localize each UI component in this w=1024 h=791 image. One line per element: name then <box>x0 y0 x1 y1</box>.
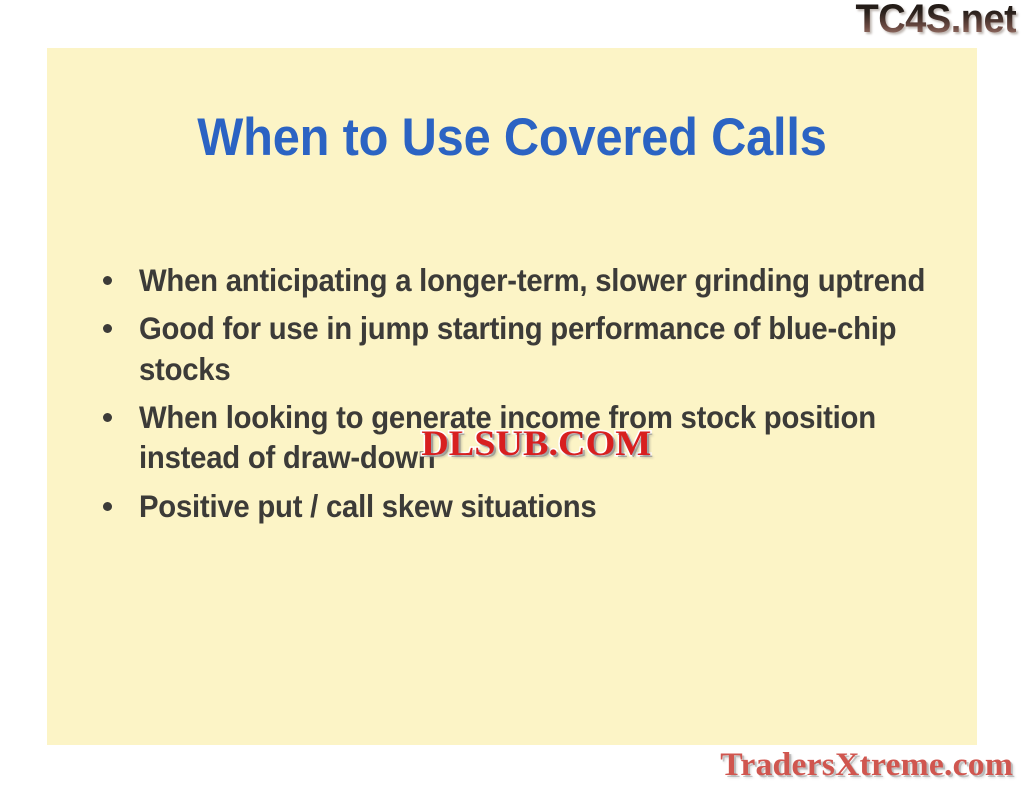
list-item-label: When anticipating a longer-term, slower … <box>139 260 977 300</box>
bullet-dot-icon <box>103 324 112 333</box>
bullet-dot-icon <box>103 502 112 511</box>
list-item-label: Good for use in jump starting performanc… <box>139 308 977 389</box>
list-item-label: Positive put / call skew situations <box>139 486 977 526</box>
tc4s-site-watermark: TC4S.net <box>855 0 1016 40</box>
list-item: When anticipating a longer-term, slower … <box>97 260 977 300</box>
list-item: Good for use in jump starting performanc… <box>97 308 977 389</box>
bullet-dot-icon <box>103 413 112 422</box>
slide-root: When to Use Covered Calls When anticipat… <box>0 0 1024 791</box>
dlsub-watermark: DLSUB.COM <box>417 422 656 464</box>
list-item: Positive put / call skew situations <box>97 486 977 526</box>
tradersxtreme-site-watermark: TradersXtreme.com <box>717 745 1016 785</box>
bullet-dot-icon <box>103 276 112 285</box>
bullet-list: When anticipating a longer-term, slower … <box>97 260 977 534</box>
page-title: When to Use Covered Calls <box>84 110 940 166</box>
slide-content-panel: When to Use Covered Calls When anticipat… <box>47 48 977 745</box>
